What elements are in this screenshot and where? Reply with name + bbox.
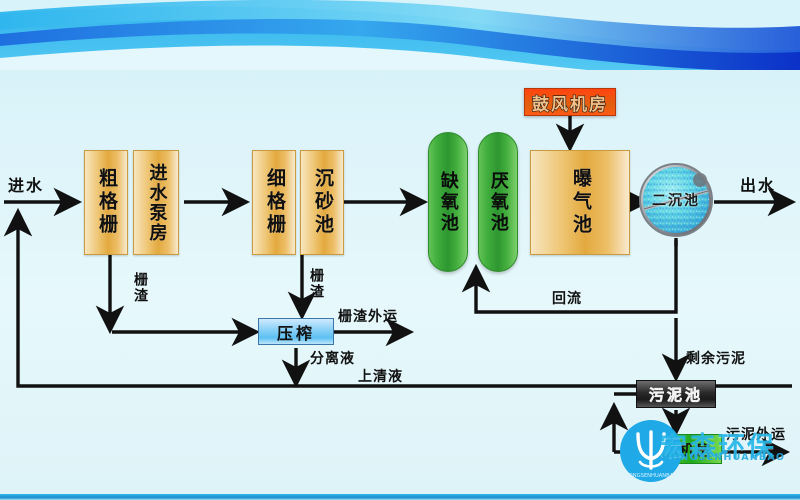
unit-fine-screen[interactable]: 细格栅 — [252, 150, 296, 255]
label-screenings-transport: 栅渣外运 — [338, 306, 398, 326]
label-influent: 进水 — [8, 172, 44, 196]
unit-fine-screen-label: 细格栅 — [264, 168, 284, 237]
unit-anaerobic-tank-label: 厌氧池 — [488, 171, 508, 234]
unit-coarse-screen-label: 粗格栅 — [96, 168, 116, 237]
unit-influent-pump-house-label: 进水泵房 — [147, 163, 166, 243]
unit-sludge-tank-label: 污泥池 — [649, 384, 703, 405]
label-separated-liquid: 分离液 — [310, 348, 355, 368]
unit-anaerobic-tank[interactable]: 厌氧池 — [478, 132, 518, 272]
label-supernatant: 上清液 — [358, 366, 403, 386]
label-screenings-fine: 栅渣 — [306, 268, 326, 300]
unit-anoxic-tank[interactable]: 缺氧池 — [428, 132, 468, 272]
label-excess-sludge: 剩余污泥 — [686, 348, 746, 368]
unit-blower-room[interactable]: 鼓风机房 — [524, 88, 616, 116]
unit-coarse-screen[interactable]: 粗格栅 — [84, 150, 128, 255]
watermark-pinyin: HONGSENHUANBAO — [662, 452, 785, 463]
unit-aeration-tank-label: 曝气池 — [570, 168, 590, 237]
unit-grit-chamber[interactable]: 沉砂池 — [300, 150, 344, 255]
unit-influent-pump-house[interactable]: 进水泵房 — [133, 150, 179, 255]
label-return-flow: 回流 — [552, 288, 582, 308]
unit-anoxic-tank-label: 缺氧池 — [438, 171, 458, 234]
label-screenings-coarse: 栅渣 — [130, 272, 150, 304]
unit-blower-room-label: 鼓风机房 — [532, 90, 608, 115]
label-effluent: 出水 — [740, 172, 776, 196]
unit-aeration-tank[interactable]: 曝气池 — [530, 150, 630, 255]
unit-press-label: 压榨 — [277, 320, 315, 344]
unit-secondary-clarifier[interactable]: 二沉池 — [638, 162, 714, 238]
diagram-canvas: 粗格栅 进水泵房 细格栅 沉砂池 缺氧池 厌氧池 曝气池 鼓风机房 — [0, 0, 800, 500]
bottom-accent-strip — [0, 494, 800, 500]
unit-sludge-tank[interactable]: 污泥池 — [636, 380, 716, 408]
unit-grit-chamber-label: 沉砂池 — [312, 168, 332, 237]
unit-press[interactable]: 压榨 — [258, 318, 334, 345]
